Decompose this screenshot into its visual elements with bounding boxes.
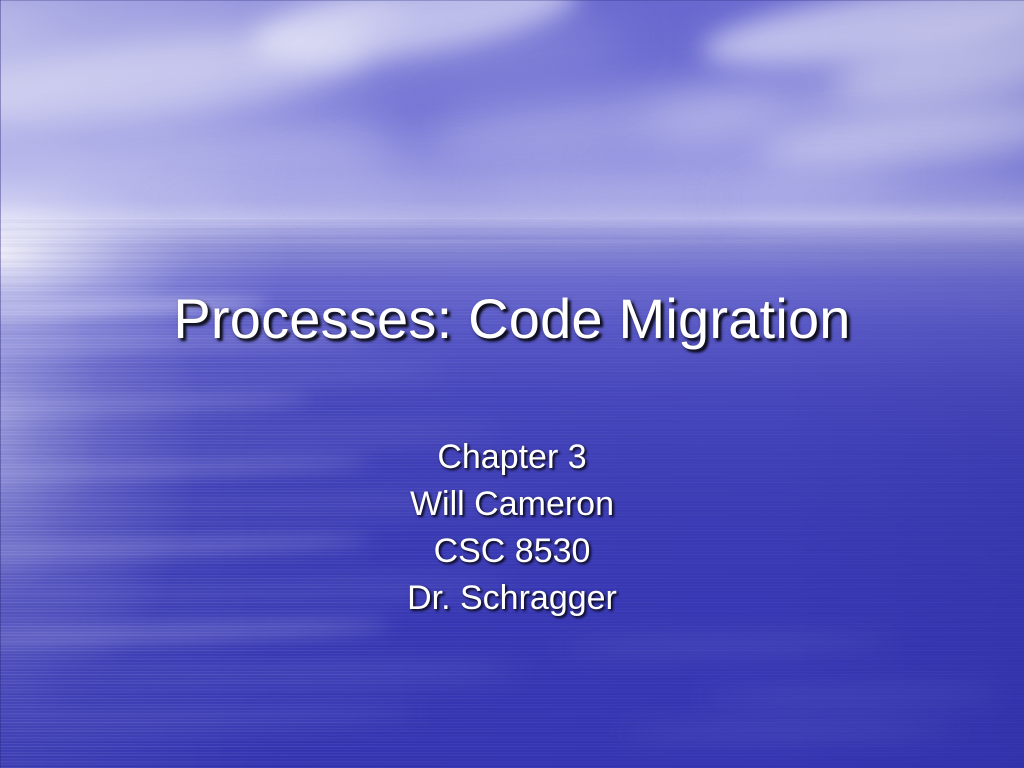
- slide-text-block: Processes: Code Migration Chapter 3 Will…: [0, 0, 1024, 768]
- subtitle-line-chapter: Chapter 3: [0, 434, 1024, 481]
- slide-title: Processes: Code Migration: [0, 286, 1024, 352]
- presentation-slide: Processes: Code Migration Chapter 3 Will…: [0, 0, 1024, 768]
- subtitle-line-author: Will Cameron: [0, 481, 1024, 528]
- slide-subtitle: Chapter 3 Will Cameron CSC 8530 Dr. Schr…: [0, 434, 1024, 622]
- subtitle-line-instructor: Dr. Schragger: [0, 575, 1024, 622]
- subtitle-line-course: CSC 8530: [0, 528, 1024, 575]
